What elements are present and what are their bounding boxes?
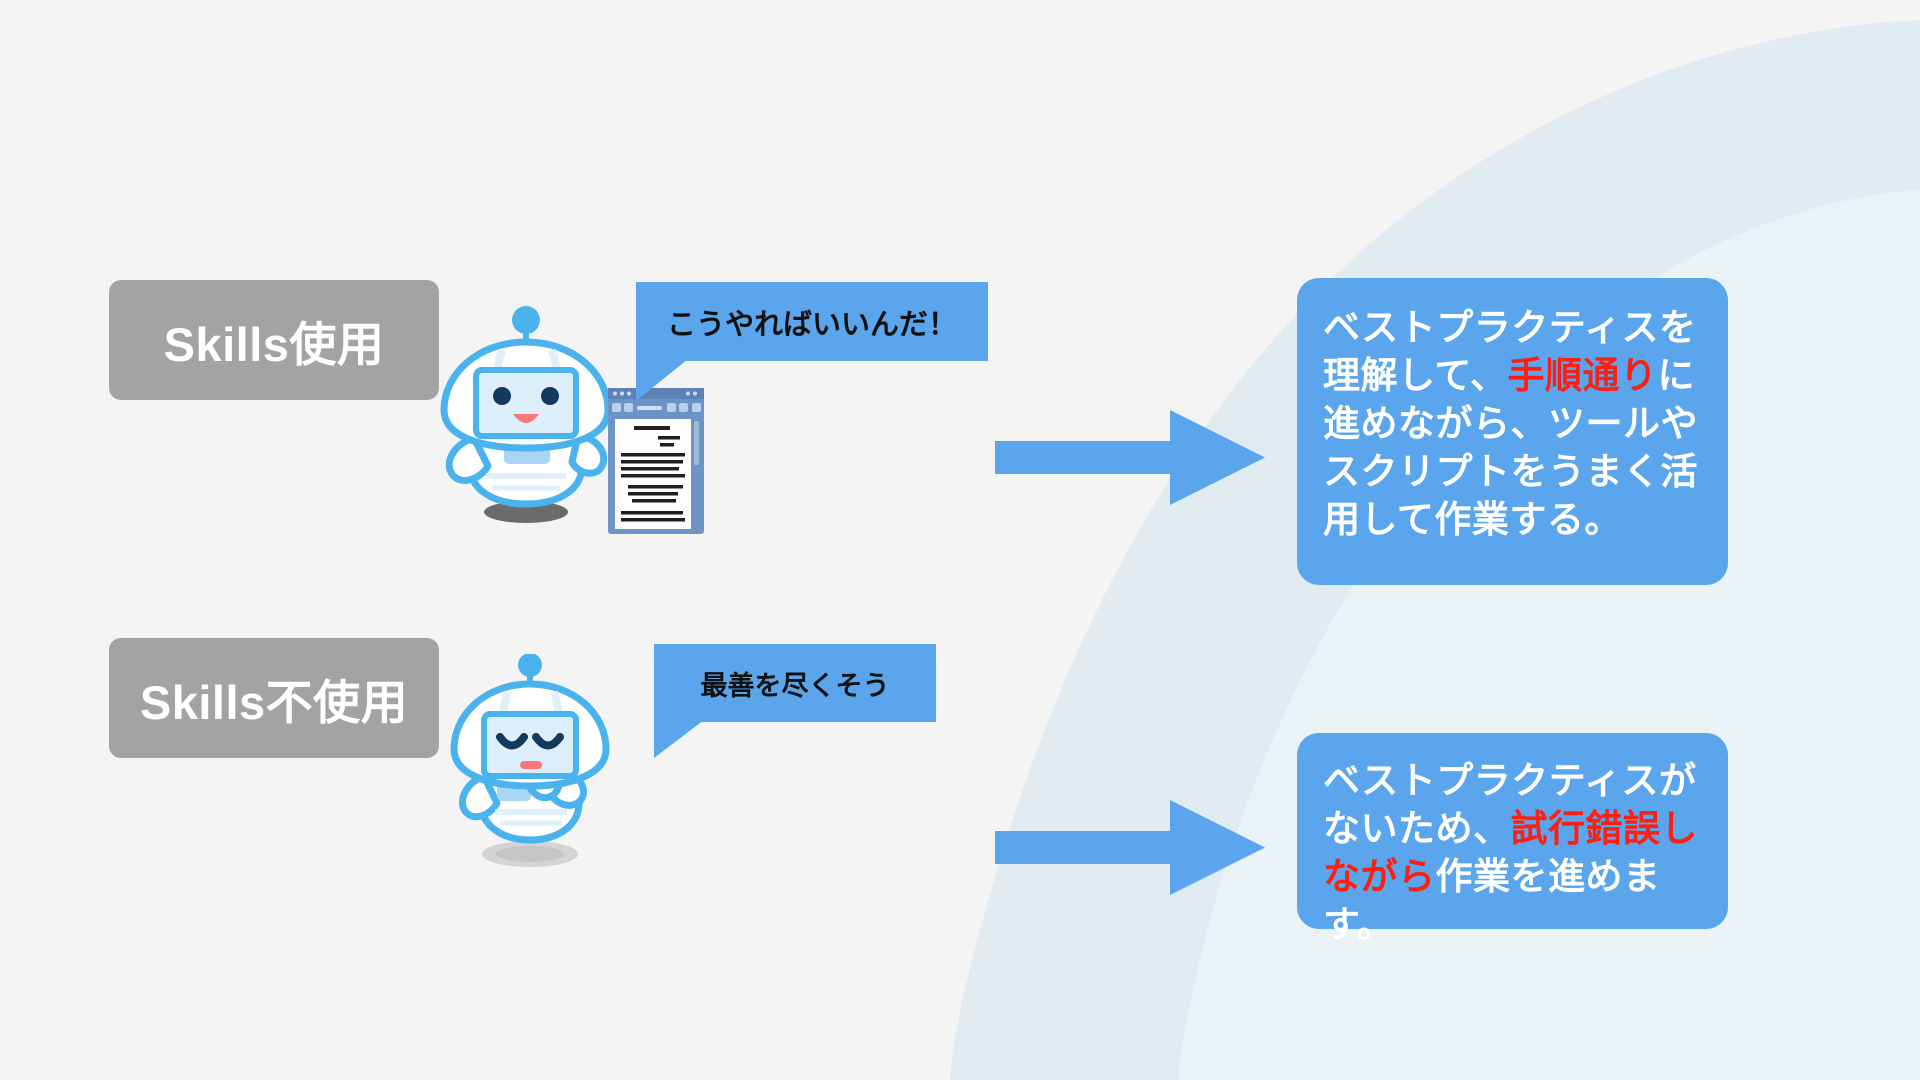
robot-eye-left bbox=[493, 387, 511, 405]
category-label-with-skills: Skills使用 bbox=[109, 280, 439, 400]
speech-bubble-tail bbox=[654, 720, 704, 758]
category-label-without-skills: Skills不使用 bbox=[109, 638, 439, 758]
speech-bubble-with-skills: こうやればいいんだ！ bbox=[636, 282, 988, 361]
speech-bubble-tail bbox=[636, 359, 688, 401]
speech-bubble-without-skills: 最善を尽くそう bbox=[654, 644, 936, 722]
flow-arrow-with-skills bbox=[995, 410, 1265, 505]
result-text-segment-highlight: 手順通り bbox=[1508, 355, 1658, 396]
result-box-without-skills: ベストプラクティスがないため、試行錯誤しながら作業を進めます。 bbox=[1297, 733, 1728, 929]
robot-happy-icon bbox=[426, 306, 626, 536]
robot-eye-right bbox=[541, 387, 559, 405]
window-toolbar bbox=[608, 399, 704, 415]
diagram-canvas: Skills使用 bbox=[0, 0, 1920, 1080]
robot-face-screen bbox=[476, 370, 576, 436]
result-box-with-skills: ベストプラクティスを理解して、手順通りに進めながら、ツールやスクリプトをうまく活… bbox=[1297, 278, 1728, 585]
robot-thinking-icon bbox=[440, 654, 620, 874]
antenna-ball bbox=[512, 306, 540, 334]
speech-bubble-text: 最善を尽くそう bbox=[701, 664, 890, 703]
document-window-icon bbox=[608, 388, 704, 534]
antenna-ball bbox=[518, 654, 542, 677]
robot-mouth-flat bbox=[520, 761, 542, 769]
flow-arrow-without-skills bbox=[995, 800, 1265, 895]
category-label-text: Skills不使用 bbox=[140, 664, 408, 733]
window-scrollbar bbox=[694, 421, 699, 465]
speech-bubble-text: こうやればいいんだ！ bbox=[667, 301, 957, 343]
category-label-text: Skills使用 bbox=[164, 306, 385, 375]
